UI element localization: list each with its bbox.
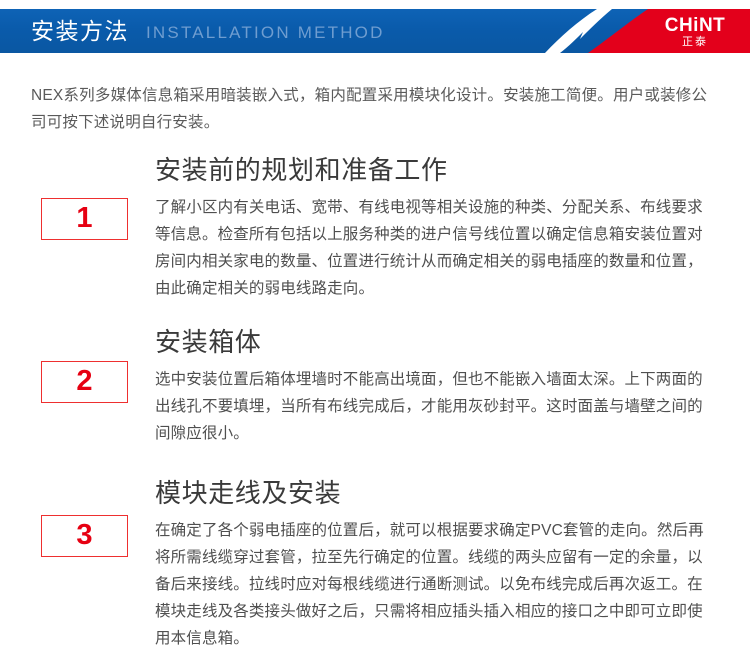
step-heading: 模块走线及安装 bbox=[155, 475, 715, 511]
page-title-cn: 安装方法 bbox=[31, 16, 129, 46]
step-description: 在确定了各个弱电插座的位置后，就可以根据要求确定PVC套管的走向。然后再将所需线… bbox=[155, 517, 715, 652]
step-heading: 安装箱体 bbox=[155, 324, 715, 360]
step-number-badge: 3 bbox=[41, 515, 128, 557]
step-description: 了解小区内有关电话、宽带、有线电视等相关设施的种类、分配关系、布线要求等信息。检… bbox=[155, 194, 715, 302]
chint-logo: CHiNT 正泰 bbox=[652, 15, 738, 49]
step-heading: 安装前的规划和准备工作 bbox=[155, 152, 715, 188]
step-body: 安装箱体 选中安装位置后箱体埋墙时不能高出境面，但也不能嵌入墙面太深。上下两面的… bbox=[155, 324, 715, 447]
step-body: 安装前的规划和准备工作 了解小区内有关电话、宽带、有线电视等相关设施的种类、分配… bbox=[155, 152, 715, 302]
step-item: 2 安装箱体 选中安装位置后箱体埋墙时不能高出境面，但也不能嵌入墙面太深。上下两… bbox=[0, 324, 750, 447]
installation-steps: 1 安装前的规划和准备工作 了解小区内有关电话、宽带、有线电视等相关设施的种类、… bbox=[0, 152, 750, 652]
intro-paragraph: NEX系列多媒体信息箱采用暗装嵌入式，箱内配置采用模块化设计。安装施工简便。用户… bbox=[31, 82, 721, 136]
page-title-en: INSTALLATION METHOD bbox=[146, 22, 385, 44]
step-number-badge: 2 bbox=[41, 361, 128, 403]
step-description: 选中安装位置后箱体埋墙时不能高出境面，但也不能嵌入墙面太深。上下两面的出线孔不要… bbox=[155, 366, 715, 447]
step-item: 3 模块走线及安装 在确定了各个弱电插座的位置后，就可以根据要求确定PVC套管的… bbox=[0, 475, 750, 652]
step-body: 模块走线及安装 在确定了各个弱电插座的位置后，就可以根据要求确定PVC套管的走向… bbox=[155, 475, 715, 652]
chint-logo-text: CHiNT bbox=[652, 15, 738, 36]
header-banner: 安装方法 INSTALLATION METHOD CHiNT 正泰 bbox=[0, 9, 750, 53]
step-item: 1 安装前的规划和准备工作 了解小区内有关电话、宽带、有线电视等相关设施的种类、… bbox=[0, 152, 750, 302]
step-number-badge: 1 bbox=[41, 198, 128, 240]
chint-logo-text-cn: 正泰 bbox=[652, 36, 738, 49]
